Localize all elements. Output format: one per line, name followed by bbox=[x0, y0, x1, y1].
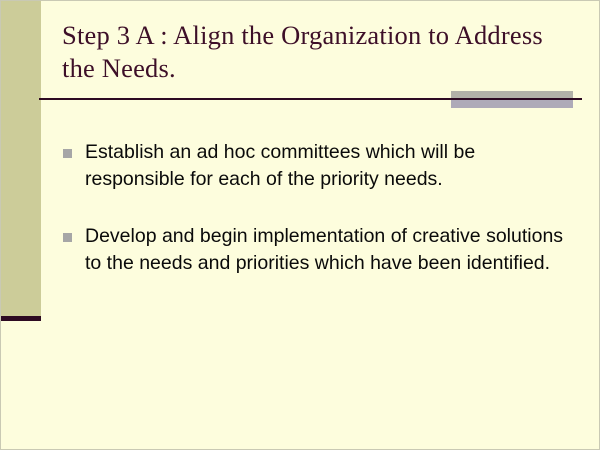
bullet-text: Establish an ad hoc committees which wil… bbox=[85, 139, 575, 193]
title-divider-rule bbox=[39, 98, 582, 100]
bullet-text: Develop and begin implementation of crea… bbox=[85, 223, 575, 277]
square-bullet-icon bbox=[63, 149, 72, 158]
left-decorative-band bbox=[1, 1, 41, 316]
presentation-slide: Step 3 A : Align the Organization to Add… bbox=[0, 0, 600, 450]
slide-body: Establish an ad hoc committees which wil… bbox=[63, 139, 575, 307]
list-item: Establish an ad hoc committees which wil… bbox=[63, 139, 575, 193]
slide-title: Step 3 A : Align the Organization to Add… bbox=[62, 19, 582, 85]
list-item: Develop and begin implementation of crea… bbox=[63, 223, 575, 277]
left-band-end-cap bbox=[1, 316, 41, 321]
square-bullet-icon bbox=[63, 233, 72, 242]
accent-block-lower bbox=[451, 100, 573, 108]
